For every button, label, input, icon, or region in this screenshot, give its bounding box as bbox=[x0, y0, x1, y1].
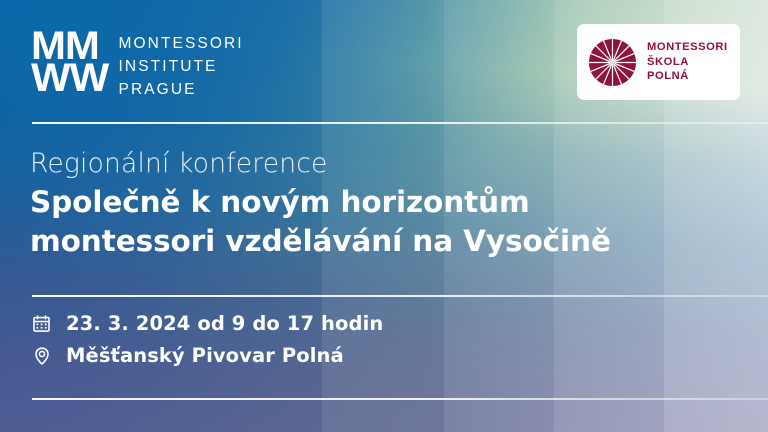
page-title: Společně k novým horizontům montessori v… bbox=[30, 183, 611, 260]
montessori-skola-polna-logo-card: MONTESSORI ŠKOLA POLNÁ bbox=[577, 24, 740, 100]
banner-content: MM WW MONTESSORI INSTITUTE PRAGUE bbox=[0, 0, 768, 432]
event-details: 23. 3. 2024 od 9 do 17 hodin Měšťanský P… bbox=[31, 312, 383, 367]
monogram-line-2: WW bbox=[31, 62, 108, 94]
event-eyebrow: Regionální konference bbox=[30, 148, 611, 179]
event-location-text: Měšťanský Pivovar Polná bbox=[66, 344, 344, 367]
institute-logo-words: MONTESSORI INSTITUTE PRAGUE bbox=[119, 30, 244, 101]
montessori-institute-logo: MM WW MONTESSORI INSTITUTE PRAGUE bbox=[31, 30, 244, 101]
institute-word-2: INSTITUTE bbox=[119, 56, 244, 79]
mmww-monogram-icon: MM WW bbox=[31, 30, 108, 94]
starburst-circle-icon bbox=[589, 39, 636, 86]
divider-bottom bbox=[32, 398, 768, 400]
institute-word-1: MONTESSORI bbox=[119, 33, 244, 56]
divider-top bbox=[32, 122, 768, 124]
event-date-row: 23. 3. 2024 od 9 do 17 hodin bbox=[31, 312, 383, 335]
school-logo-words: MONTESSORI ŠKOLA POLNÁ bbox=[647, 40, 728, 84]
institute-word-3: PRAGUE bbox=[119, 79, 244, 102]
title-line-1: Společně k novým horizontům bbox=[30, 183, 611, 221]
event-date-text: 23. 3. 2024 od 9 do 17 hodin bbox=[66, 312, 383, 335]
event-location-row: Měšťanský Pivovar Polná bbox=[31, 344, 383, 367]
school-word-3: POLNÁ bbox=[647, 69, 728, 84]
divider-middle bbox=[32, 295, 768, 297]
calendar-icon bbox=[31, 313, 52, 334]
school-word-2: ŠKOLA bbox=[647, 55, 728, 70]
school-word-1: MONTESSORI bbox=[647, 40, 728, 55]
title-line-2: montessori vzdělávání na Vysočině bbox=[30, 222, 611, 260]
event-banner: MM WW MONTESSORI INSTITUTE PRAGUE bbox=[0, 0, 768, 432]
headline-block: Regionální konference Společně k novým h… bbox=[30, 148, 611, 260]
location-pin-icon bbox=[31, 345, 52, 366]
